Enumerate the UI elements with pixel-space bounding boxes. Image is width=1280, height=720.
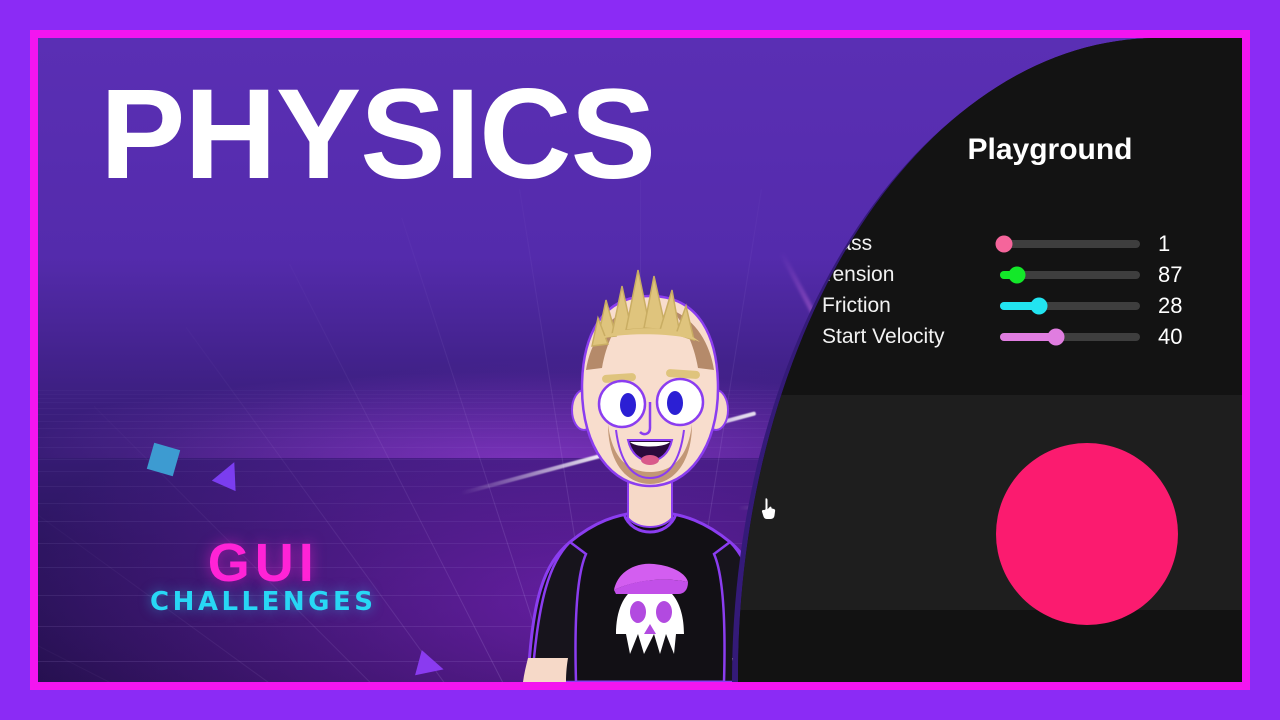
- slider-row-friction[interactable]: Friction28: [822, 290, 1228, 321]
- slider-label: Mass: [822, 232, 1000, 256]
- logo-line-gui: GUI: [150, 538, 376, 589]
- slider-thumb[interactable]: [1008, 266, 1025, 283]
- slide-stage: PHYSICS GUI CHALLENGES: [38, 38, 1242, 682]
- slider-row-mass[interactable]: Mass1: [822, 228, 1228, 259]
- ball-stage[interactable]: [738, 395, 1242, 610]
- slider-row-start-velocity[interactable]: Start Velocity40: [822, 321, 1228, 352]
- slider-value: 40: [1158, 324, 1194, 350]
- slider-label: Tension: [822, 263, 1000, 287]
- gui-challenges-logo: GUI CHALLENGES: [150, 538, 376, 617]
- draggable-ball[interactable]: [996, 443, 1178, 625]
- panel-bottom-zone: [738, 610, 1242, 682]
- slider-list: Mass1Tension87Friction28Start Velocity40: [822, 228, 1228, 352]
- slider-thumb[interactable]: [996, 235, 1013, 252]
- slider-track[interactable]: [1000, 240, 1140, 248]
- pointer-hand-cursor: [760, 497, 778, 521]
- slider-label: Start Velocity: [822, 325, 1000, 349]
- slider-label: Friction: [822, 294, 1000, 318]
- playground-panel: Playground Mass1Tension87Friction28Start…: [732, 38, 1242, 682]
- slider-thumb[interactable]: [1048, 328, 1065, 345]
- panel-title: Playground: [738, 133, 1242, 167]
- page-title: PHYSICS: [100, 68, 655, 202]
- slider-value: 1: [1158, 231, 1194, 257]
- logo-line-challenges: CHALLENGES: [150, 587, 376, 617]
- slider-value: 87: [1158, 262, 1194, 288]
- slider-track[interactable]: [1000, 302, 1140, 310]
- slider-thumb[interactable]: [1031, 297, 1048, 314]
- slider-track[interactable]: [1000, 333, 1140, 341]
- slider-value: 28: [1158, 293, 1194, 319]
- slider-row-tension[interactable]: Tension87: [822, 259, 1228, 290]
- slider-track[interactable]: [1000, 271, 1140, 279]
